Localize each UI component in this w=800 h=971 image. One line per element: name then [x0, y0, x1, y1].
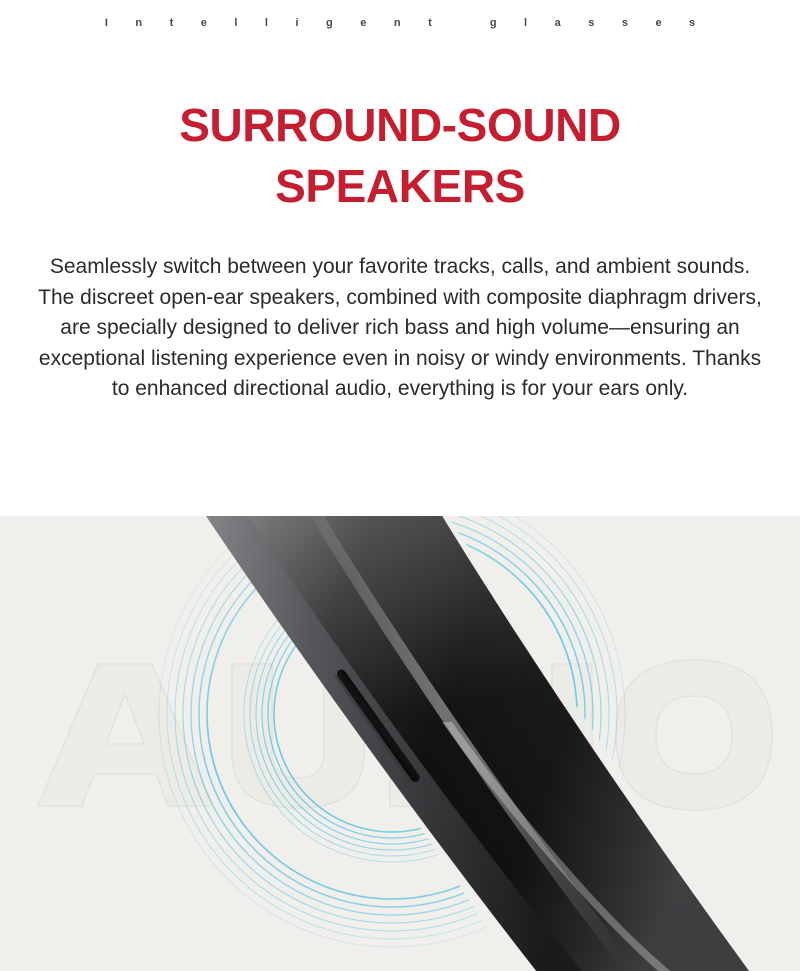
eyebrow-label: Intelligent glasses: [77, 18, 722, 29]
headline-line-1: SURROUND-SOUND: [179, 99, 621, 151]
page-title: SURROUND-SOUND SPEAKERS: [0, 95, 800, 216]
headline-block: SURROUND-SOUND SPEAKERS: [0, 95, 800, 216]
hero-image-panel: [0, 516, 800, 971]
body-copy-block: Seamlessly switch between your favorite …: [0, 252, 800, 405]
product-feature-page: Intelligent glasses SURROUND-SOUND SPEAK…: [0, 0, 800, 971]
feature-description: Seamlessly switch between your favorite …: [30, 252, 770, 405]
eyebrow-bar: Intelligent glasses: [0, 0, 800, 46]
hero-illustration: [0, 516, 800, 971]
headline-line-2: SPEAKERS: [275, 160, 525, 212]
